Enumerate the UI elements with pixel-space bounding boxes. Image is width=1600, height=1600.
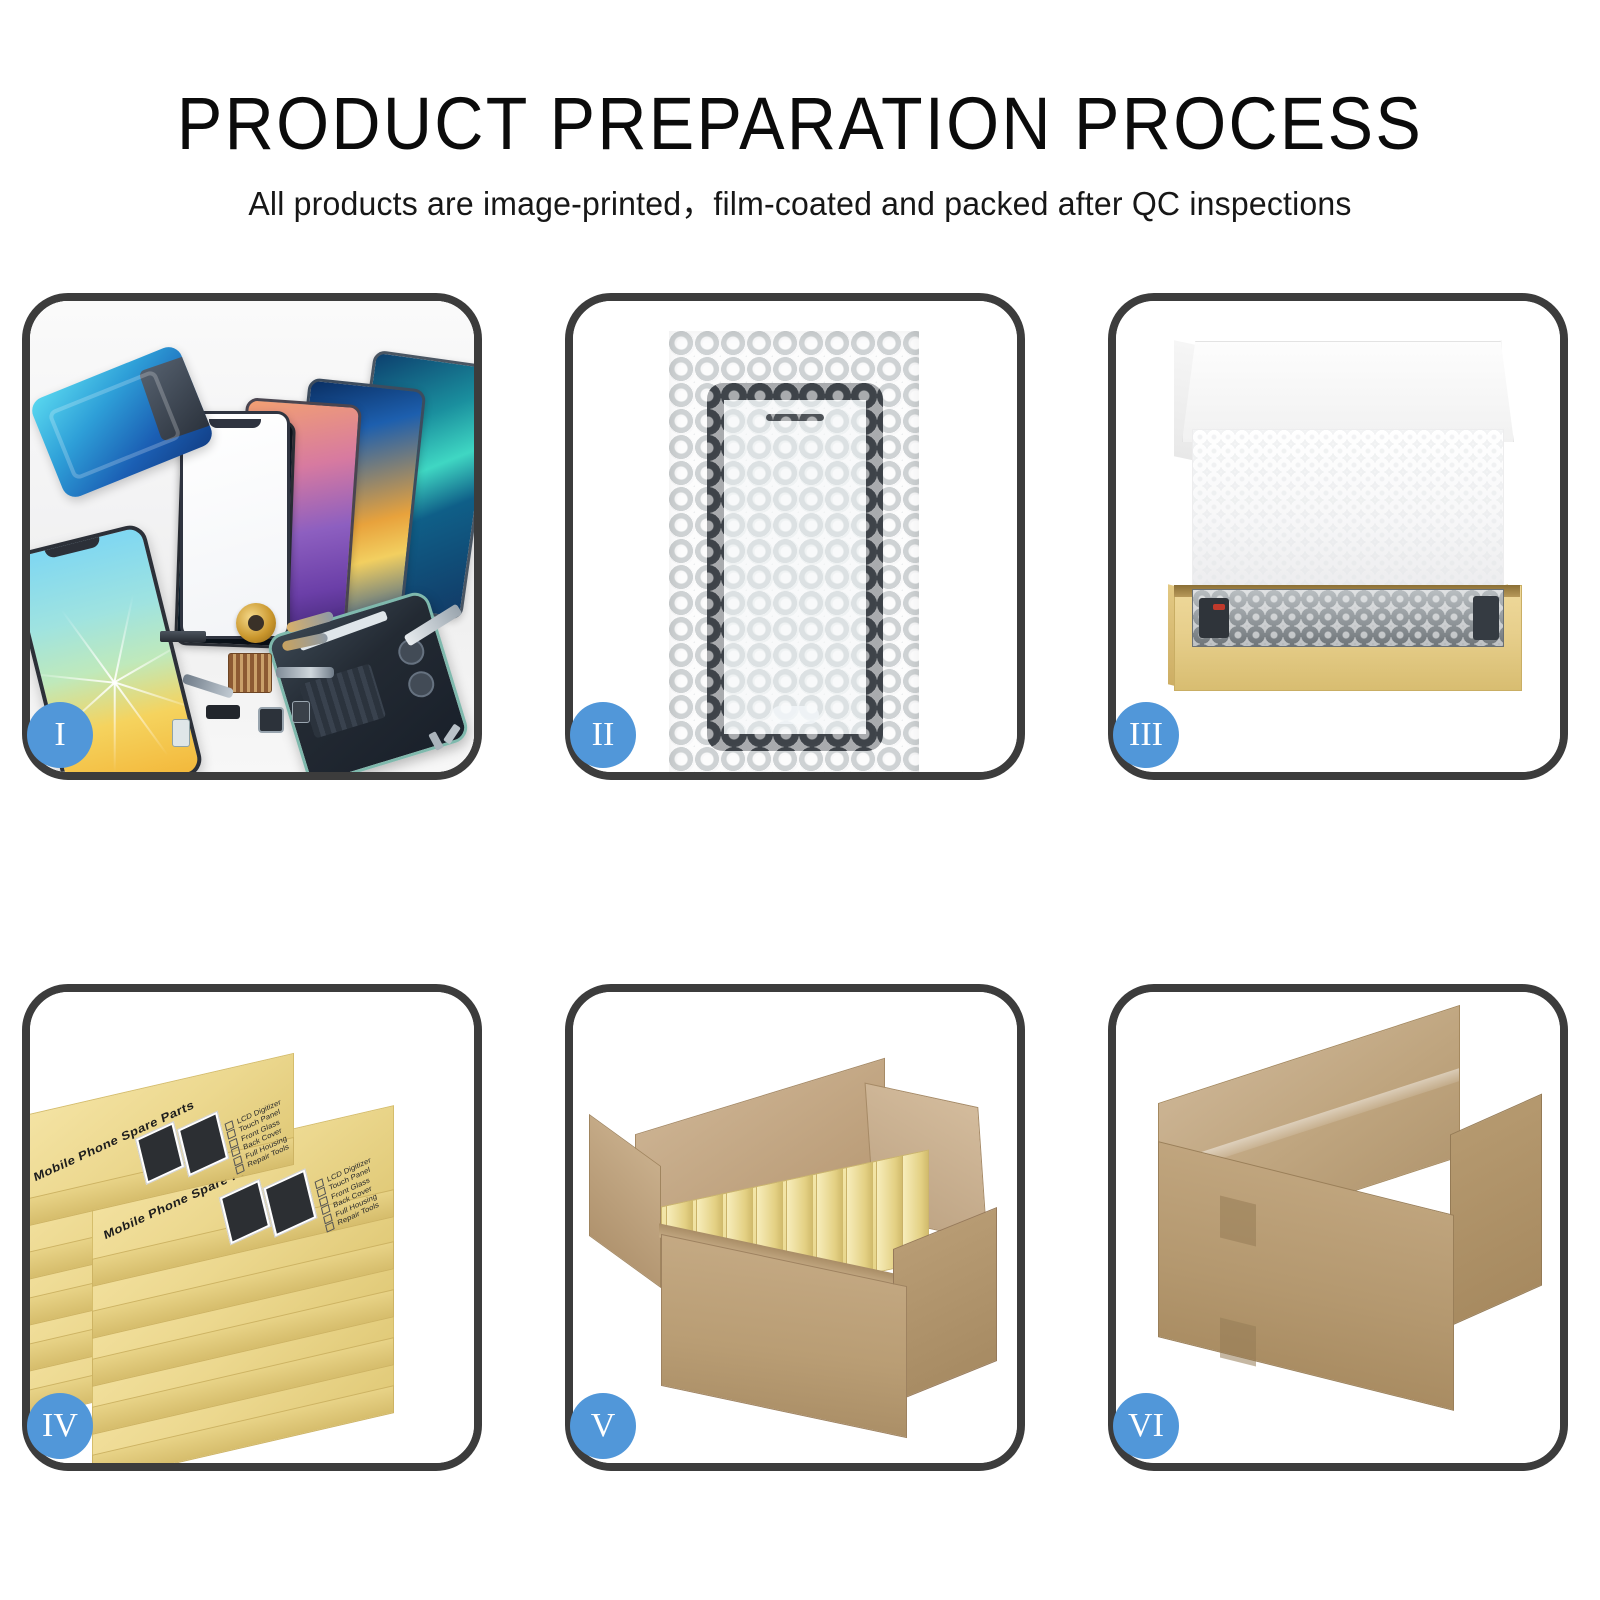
step-card-4[interactable]: Mobile Phone Spare Parts LCD Digitizer T…	[22, 984, 482, 1471]
wrapped-screen-in-box-icon	[1192, 589, 1504, 647]
ic-chip-icon	[228, 653, 272, 693]
box-lid-icon	[1182, 341, 1514, 442]
step-card-6[interactable]: VI	[1108, 984, 1568, 1471]
page-subtitle: All products are image-printed，film-coat…	[24, 184, 1576, 224]
step-image-product-range	[30, 301, 474, 772]
screen-assembly-icon	[707, 383, 883, 751]
foam-liner-icon	[1192, 429, 1504, 591]
step-badge-4: IV	[27, 1393, 93, 1459]
camera-module-icon	[292, 701, 310, 723]
step-card-5[interactable]: V	[565, 984, 1025, 1471]
carton-tape-patch	[1220, 1196, 1256, 1247]
page-title: PRODUCT PREPARATION PROCESS	[64, 82, 1536, 166]
header: PRODUCT PREPARATION PROCESS All products…	[0, 0, 1600, 224]
camera-module-icon	[258, 707, 284, 733]
process-grid: I II	[22, 293, 1570, 1471]
infographic-page: PRODUCT PREPARATION PROCESS All products…	[0, 0, 1600, 1600]
step-badge-2: II	[570, 702, 636, 768]
carton-right-face	[1450, 1094, 1542, 1327]
step-card-1[interactable]: I	[22, 293, 482, 780]
step-badge-3: III	[1113, 702, 1179, 768]
speaker-module-icon	[206, 705, 240, 719]
step-image-carton-filling	[573, 992, 1017, 1463]
speaker-bar-icon	[160, 631, 206, 642]
flex-cable-icon	[276, 667, 334, 678]
step-image-inner-box	[1116, 301, 1560, 772]
process-row-1: I II	[22, 293, 1570, 780]
home-button-icon	[771, 706, 819, 724]
earpiece-slot-icon	[766, 414, 824, 421]
process-row-2: Mobile Phone Spare Parts LCD Digitizer T…	[22, 984, 1570, 1471]
step-image-bubble-wrap	[573, 301, 1017, 772]
step-badge-1: I	[27, 702, 93, 768]
carton-front-face	[1158, 1141, 1454, 1411]
step-card-2[interactable]: II	[565, 293, 1025, 780]
step-card-3[interactable]: III	[1108, 293, 1568, 780]
step-image-retail-boxes: Mobile Phone Spare Parts LCD Digitizer T…	[30, 992, 474, 1463]
step-badge-6: VI	[1113, 1393, 1179, 1459]
carton-tape-patch	[1220, 1318, 1256, 1367]
sim-tray-icon	[172, 719, 190, 747]
bubble-wrap-sheet-icon	[669, 331, 919, 772]
step-badge-5: V	[570, 1393, 636, 1459]
step-image-carton-sealed	[1116, 992, 1560, 1463]
charging-coil-icon	[236, 603, 276, 643]
